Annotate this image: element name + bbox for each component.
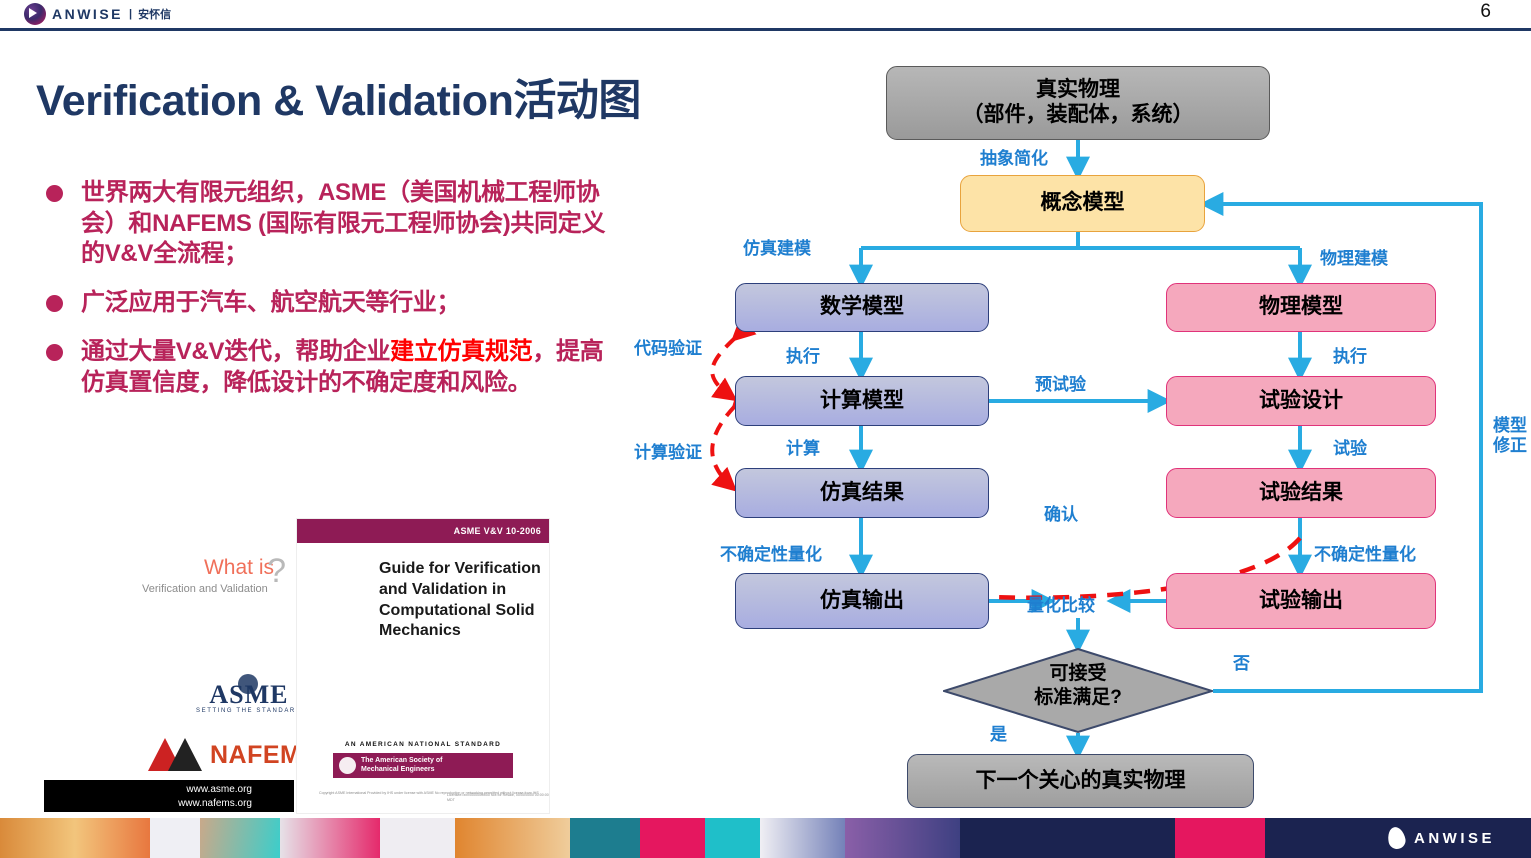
bullet-dot-icon (46, 344, 63, 361)
question-mark-icon: ? (267, 552, 286, 591)
footer-band-segment (200, 818, 290, 858)
edge-label-no: 否 (1233, 649, 1250, 674)
asme-society-line2: Mechanical Engineers (361, 766, 442, 775)
bullet-dot-icon (46, 295, 63, 312)
model-update-line1: 模型 (1490, 416, 1530, 436)
brand-name: ANWISE (52, 6, 123, 22)
edge-label-calculate: 计算 (786, 434, 820, 459)
source-url-band: www.asme.org www.nafems.org (44, 780, 294, 812)
asme-url: www.asme.org (44, 783, 252, 797)
asme-society-line1: The American Society of (361, 757, 442, 766)
edge-label-execute-right: 执行 (1333, 342, 1367, 367)
footer-band-segment (280, 818, 390, 858)
model-update-line2: 修正 (1490, 436, 1530, 456)
footer-brand-logo: ANWISE (1388, 827, 1495, 849)
asme-seal-icon (339, 757, 356, 774)
asme-logo: ASME SETTING THE STANDARD (196, 680, 302, 714)
edge-label-physical-modeling: 物理建模 (1320, 244, 1388, 269)
node-experiment-result[interactable]: 试验结果 (1166, 468, 1436, 518)
node-experiment-design[interactable]: 试验设计 (1166, 376, 1436, 426)
edge-label-quantitative-comparison: 量化比较 (1027, 591, 1095, 616)
list-item: 广泛应用于汽车、航空航天等行业； (46, 288, 616, 319)
edge-label-uq-left: 不确定性量化 (720, 540, 822, 565)
decision-line1: 可接受 (943, 662, 1213, 686)
asme-globe-icon (238, 674, 258, 694)
footer-band-segment (845, 818, 965, 858)
asme-document-cover: ASME V&V 10-2006 Guide for Verification … (296, 518, 550, 814)
brand-divider: | (129, 8, 132, 20)
footer-band-segment (640, 818, 710, 858)
document-asme-band: The American Society of Mechanical Engin… (333, 753, 513, 778)
bullet-text-part: 广泛应用于汽车、航空航天等行业； (81, 289, 460, 316)
edge-label-uq-right: 不确定性量化 (1314, 540, 1416, 565)
node-real-physics-line1: 真实物理 (1036, 78, 1120, 103)
edge-label-yes: 是 (990, 720, 1007, 745)
what-is-label: What is (204, 556, 274, 580)
document-title: Guide for Verification and Validation in… (379, 559, 547, 642)
node-acceptance-decision[interactable]: 可接受 标准满足? (943, 648, 1213, 733)
bullet-text-part: 世界两大有限元组织，ASME（美国机械工程师协会）和NAFEMS (国际有限元工… (81, 179, 605, 267)
list-item: 世界两大有限元组织，ASME（美国机械工程师协会）和NAFEMS (国际有限元工… (46, 178, 616, 270)
footer-band-segment (455, 818, 575, 858)
edge-label-simulation-modeling: 仿真建模 (743, 234, 811, 259)
node-computational-model[interactable]: 计算模型 (735, 376, 989, 426)
bullet-list: 世界两大有限元组织，ASME（美国机械工程师协会）和NAFEMS (国际有限元工… (46, 178, 616, 416)
node-conceptual-model[interactable]: 概念模型 (960, 175, 1205, 232)
document-ans-label: AN AMERICAN NATIONAL STANDARD (297, 741, 549, 748)
footer-brand-name: ANWISE (1414, 830, 1495, 847)
footer-band-segment (705, 818, 765, 858)
nafems-url: www.nafems.org (44, 797, 252, 811)
edge-label-abstraction: 抽象简化 (980, 144, 1048, 169)
header-divider (0, 28, 1531, 31)
brand-logo: ANWISE | 安怀信 (24, 3, 171, 25)
bullet-text: 通过大量V&V迭代，帮助企业建立仿真规范，提高仿真置信度，降低设计的不确定度和风… (81, 337, 616, 398)
list-item: 通过大量V&V迭代，帮助企业建立仿真规范，提高仿真置信度，降低设计的不确定度和风… (46, 337, 616, 398)
what-is-vv-image: What is ? Verification and Validation (142, 556, 282, 616)
footer-band-segment (570, 818, 650, 858)
node-math-model[interactable]: 数学模型 (735, 283, 989, 332)
asme-logo-tagline: SETTING THE STANDARD (196, 708, 302, 714)
decision-line2: 标准满足? (943, 686, 1213, 710)
nafems-logo: NAFEMS (148, 738, 319, 772)
bullet-text: 广泛应用于汽车、航空航天等行业； (81, 288, 460, 319)
footer-band-segment (760, 818, 850, 858)
document-asme-text: The American Society of Mechanical Engin… (361, 757, 442, 775)
document-standard-number: ASME V&V 10-2006 (297, 519, 549, 543)
node-real-physics[interactable]: 真实物理 （部件，装配体，系统） (886, 66, 1270, 140)
what-is-sublabel: Verification and Validation (142, 583, 268, 595)
node-experiment-output[interactable]: 试验输出 (1166, 573, 1436, 629)
edge-label-validation: 确认 (1044, 500, 1078, 525)
vv-activity-flowchart: 真实物理 （部件，装配体，系统） 概念模型 数学模型 计算模型 仿真结果 仿真输… (600, 48, 1531, 808)
page-title: Verification & Validation活动图 (36, 66, 641, 128)
page-footer: ANWISE (0, 818, 1531, 858)
bullet-text: 世界两大有限元组织，ASME（美国机械工程师协会）和NAFEMS (国际有限元工… (81, 178, 616, 270)
bullet-highlight: 建立仿真规范 (390, 338, 532, 365)
footer-band-segment (1175, 818, 1270, 858)
brand-name-cn: 安怀信 (138, 6, 171, 22)
footer-band-segment (960, 818, 1180, 858)
edge-label-code-verification: 代码验证 (634, 334, 702, 359)
page-number: 6 (1480, 1, 1491, 23)
edge-label-execute-left: 执行 (786, 342, 820, 367)
document-fineprint-right: Licensee=xxx/0000000000 Not for Resale, … (447, 793, 549, 804)
edge-label-test: 试验 (1333, 434, 1367, 459)
bullet-text-part: 通过大量V&V迭代，帮助企业 (81, 338, 390, 365)
bullet-dot-icon (46, 185, 63, 202)
anwise-mark-icon (24, 3, 46, 25)
node-simulation-output[interactable]: 仿真输出 (735, 573, 989, 629)
nafems-triangle-icon (148, 738, 204, 772)
footer-band-segment (0, 818, 150, 858)
anwise-drop-icon (1386, 825, 1407, 850)
node-simulation-result[interactable]: 仿真结果 (735, 468, 989, 518)
edge-label-calculation-verification: 计算验证 (634, 438, 702, 463)
page-header: ANWISE | 安怀信 6 (0, 0, 1531, 30)
footer-band-segment (380, 818, 460, 858)
node-next-real-physics[interactable]: 下一个关心的真实物理 (907, 754, 1254, 808)
node-physical-model[interactable]: 物理模型 (1166, 283, 1436, 332)
node-real-physics-line2: （部件，装配体，系统） (963, 103, 1194, 128)
edge-label-model-update: 模型 修正 (1490, 416, 1530, 455)
edge-label-pre-test: 预试验 (1035, 370, 1086, 395)
node-acceptance-decision-label: 可接受 标准满足? (943, 662, 1213, 710)
